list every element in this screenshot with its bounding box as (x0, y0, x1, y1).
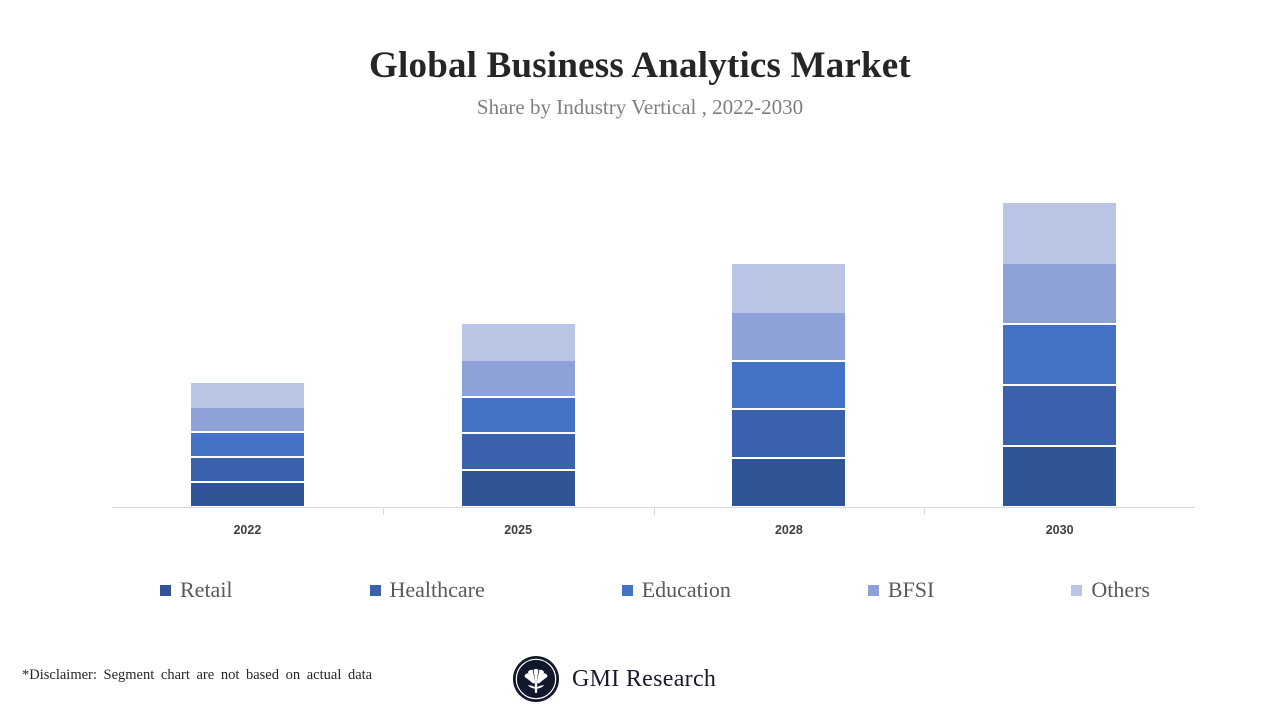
bar-segment-healthcare[interactable] (462, 434, 575, 471)
legend-item-healthcare[interactable]: Healthcare (370, 577, 485, 603)
legend-swatch-icon (160, 585, 171, 596)
legend-label: Education (642, 577, 731, 603)
bar-segment-healthcare[interactable] (191, 458, 304, 483)
x-axis-label-2030: 2030 (924, 518, 1195, 542)
x-axis-labels: 2022202520282030 (112, 518, 1195, 542)
x-axis-label-2028: 2028 (654, 518, 925, 542)
stacked-bar[interactable] (191, 383, 304, 508)
x-axis-tick (924, 508, 925, 515)
bar-segment-education[interactable] (191, 433, 304, 458)
bar-segment-healthcare[interactable] (1003, 386, 1116, 447)
legend-item-others[interactable]: Others (1071, 577, 1150, 603)
x-axis-label-2025: 2025 (383, 518, 654, 542)
disclaimer-text: *Disclaimer: Segment chart are not based… (22, 667, 372, 684)
x-axis-tick (383, 508, 384, 515)
bar-column-2025 (383, 140, 654, 508)
legend-label: Healthcare (390, 577, 485, 603)
bar-segment-bfsi[interactable] (732, 313, 845, 362)
legend-label: Others (1091, 577, 1150, 603)
legend-swatch-icon (622, 585, 633, 596)
bar-segment-bfsi[interactable] (191, 408, 304, 433)
bar-segment-education[interactable] (462, 398, 575, 435)
bar-segment-retail[interactable] (191, 483, 304, 508)
bar-column-2030 (924, 140, 1195, 508)
chart-legend: RetailHealthcareEducationBFSIOthers (160, 573, 1150, 607)
bar-segment-retail[interactable] (732, 459, 845, 508)
legend-item-retail[interactable]: Retail (160, 577, 233, 603)
legend-swatch-icon (1071, 585, 1082, 596)
legend-label: BFSI (888, 577, 934, 603)
bar-segment-others[interactable] (732, 264, 845, 313)
legend-label: Retail (180, 577, 233, 603)
bar-segment-others[interactable] (1003, 203, 1116, 264)
bar-column-2028 (654, 140, 925, 508)
x-axis-tick (654, 508, 655, 515)
chart-page: Global Business Analytics Market Share b… (0, 0, 1280, 720)
x-axis-label-2022: 2022 (112, 518, 383, 542)
legend-item-education[interactable]: Education (622, 577, 731, 603)
brand-logo: GMI Research (512, 655, 716, 703)
gmi-emblem-icon (512, 655, 560, 703)
chart-subtitle: Share by Industry Vertical , 2022-2030 (0, 95, 1280, 120)
legend-swatch-icon (370, 585, 381, 596)
brand-name: GMI Research (572, 666, 716, 693)
bar-segment-retail[interactable] (1003, 447, 1116, 508)
legend-item-bfsi[interactable]: BFSI (868, 577, 934, 603)
bar-segment-education[interactable] (1003, 325, 1116, 386)
bar-segment-retail[interactable] (462, 471, 575, 508)
stacked-bar[interactable] (1003, 203, 1116, 508)
chart-title: Global Business Analytics Market (0, 44, 1280, 87)
bar-column-2022 (112, 140, 383, 508)
bar-segment-education[interactable] (732, 362, 845, 411)
bar-plot-area (112, 140, 1195, 508)
bar-segment-bfsi[interactable] (1003, 264, 1116, 325)
stacked-bar[interactable] (732, 264, 845, 508)
stacked-bar[interactable] (462, 324, 575, 508)
bar-segment-bfsi[interactable] (462, 361, 575, 398)
bar-segment-healthcare[interactable] (732, 410, 845, 459)
bar-segment-others[interactable] (191, 383, 304, 408)
legend-swatch-icon (868, 585, 879, 596)
bar-segment-others[interactable] (462, 324, 575, 361)
